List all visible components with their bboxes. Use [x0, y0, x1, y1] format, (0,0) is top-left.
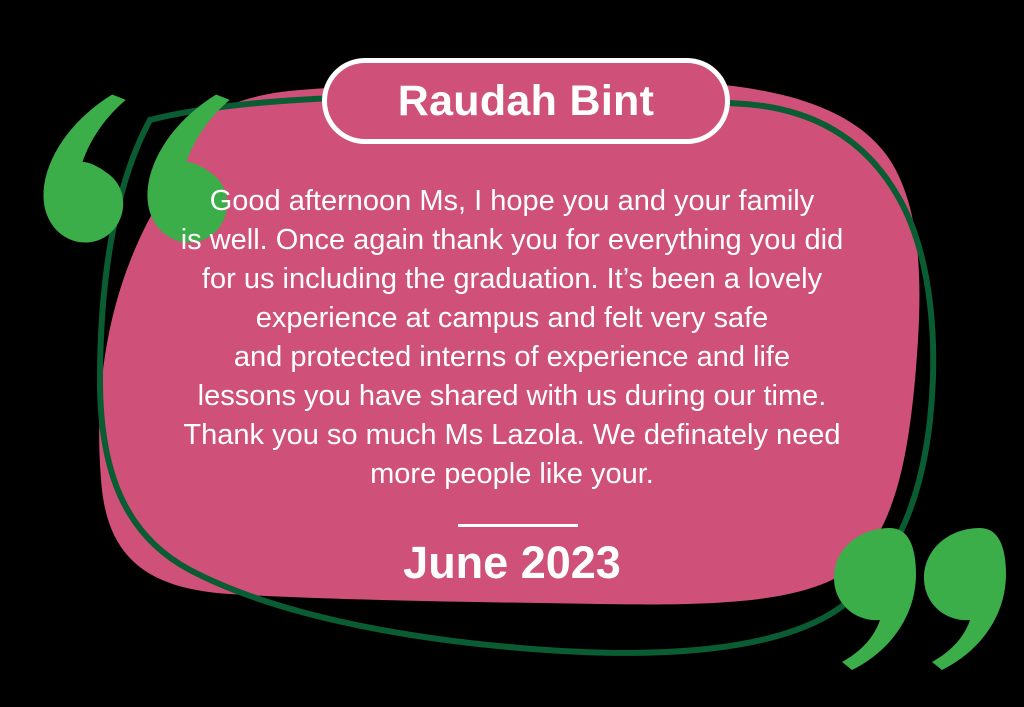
quote-line: experience at campus and felt very safe — [112, 299, 912, 338]
horizontal-rule — [458, 524, 578, 527]
quote-line: and protected interns of experience and … — [112, 338, 912, 377]
quote-line: Good afternoon Ms, I hope you and your f… — [112, 182, 912, 221]
testimonial-text: Good afternoon Ms, I hope you and your f… — [112, 182, 912, 494]
quote-line: Thank you so much Ms Lazola. We definate… — [112, 416, 912, 455]
name-badge: Raudah Bint — [322, 58, 730, 144]
quote-line: lessons you have shared with us during o… — [112, 377, 912, 416]
testimonial-card: Raudah Bint Good afternoon Ms, I hope yo… — [0, 0, 1024, 707]
quote-line: is well. Once again thank you for everyt… — [112, 221, 912, 260]
quote-line: more people like your. — [112, 455, 912, 494]
quote-line: for us including the graduation. It’s be… — [112, 260, 912, 299]
testimonial-date: June 2023 — [262, 538, 762, 588]
reviewer-name: Raudah Bint — [398, 80, 655, 123]
